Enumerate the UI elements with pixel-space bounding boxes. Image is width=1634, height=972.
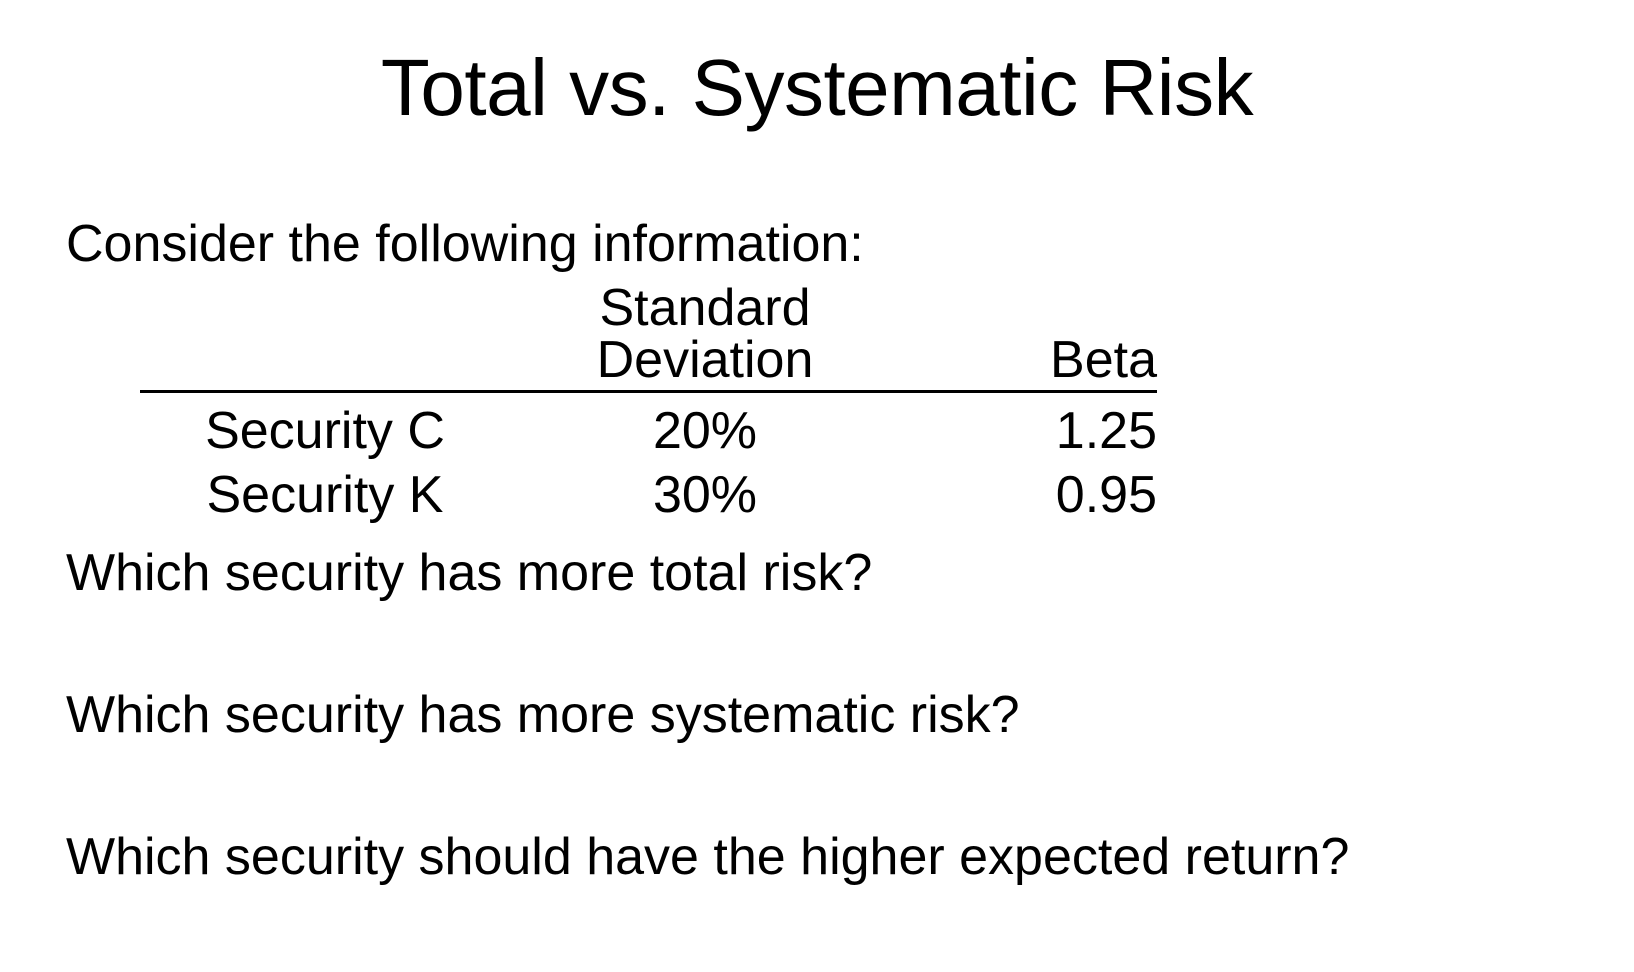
cell-standard-deviation: 30%	[510, 457, 900, 521]
question-expected-return: Which security should have the higher ex…	[66, 829, 1586, 885]
slide-title: Total vs. Systematic Risk	[0, 48, 1634, 128]
table-row: Security C 20% 1.25	[140, 392, 1157, 458]
questions-list: Which security has more total risk? Whic…	[66, 545, 1586, 885]
cell-beta: 1.25	[900, 392, 1157, 458]
column-header-beta: Beta	[900, 282, 1157, 392]
question-total-risk: Which security has more total risk?	[66, 545, 1586, 687]
cell-beta: 0.95	[900, 457, 1157, 521]
column-header-security	[140, 282, 510, 392]
table-row: Security K 30% 0.95	[140, 457, 1157, 521]
cell-standard-deviation: 20%	[510, 392, 900, 458]
risk-comparison-table: Standard Deviation Beta Security C 20% 1…	[140, 282, 1157, 521]
cell-security-name: Security K	[140, 457, 510, 521]
table-header: Standard Deviation Beta	[140, 282, 1157, 392]
slide-body: Consider the following information: Stan…	[66, 216, 1586, 521]
slide-canvas: Total vs. Systematic Risk Consider the f…	[0, 0, 1634, 972]
column-header-standard-deviation: Standard Deviation	[510, 282, 900, 392]
lead-in-text: Consider the following information:	[66, 216, 1586, 272]
question-systematic-risk: Which security has more systematic risk?	[66, 687, 1586, 829]
cell-security-name: Security C	[140, 392, 510, 458]
table-body: Security C 20% 1.25 Security K 30% 0.95	[140, 392, 1157, 522]
table-header-row: Standard Deviation Beta	[140, 282, 1157, 392]
